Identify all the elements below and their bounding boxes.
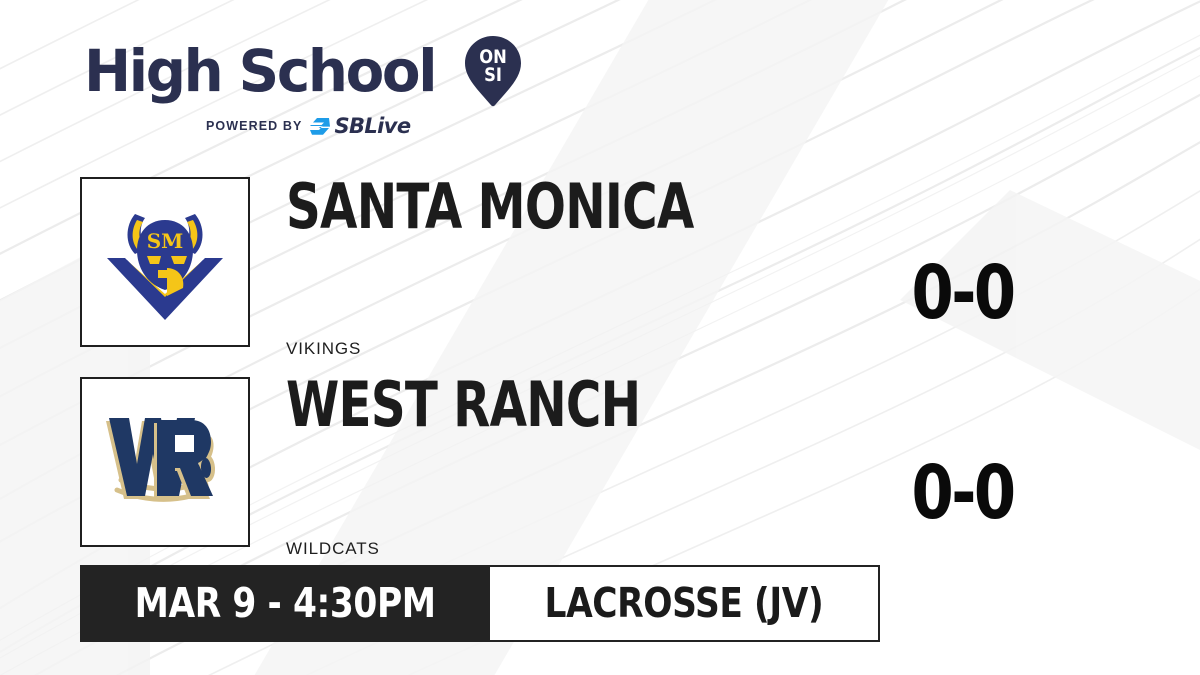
team-logo-santa-monica: SM [80, 177, 250, 347]
brand-header: High School ON SI POWERED BY SBLive [84, 34, 514, 134]
svg-text:SI: SI [484, 65, 502, 86]
team-score-west-ranch: 0-0 [912, 456, 1014, 530]
game-sport-text: LACROSSE (JV) [545, 583, 824, 624]
brand-wordmark: High School ON SI [84, 34, 514, 108]
sblive-wordmark: SBLive [334, 114, 410, 138]
svg-text:SM: SM [147, 229, 184, 253]
team-mascot-wildcats: WILDCATS [286, 539, 380, 559]
game-sport-badge: LACROSSE (JV) [490, 565, 880, 642]
team-score-santa-monica: 0-0 [912, 256, 1014, 330]
team-mascot-vikings: VIKINGS [286, 339, 361, 359]
powered-by-row: POWERED BY SBLive [206, 114, 514, 138]
game-scorecard: High School ON SI POWERED BY SBLive [0, 0, 1200, 675]
team-logo-west-ranch [80, 377, 250, 547]
brand-title: High School [84, 42, 435, 100]
powered-by-label: POWERED BY [206, 119, 302, 133]
team-name-santa-monica: SANTA MONICA [286, 176, 693, 238]
game-datetime-text: MAR 9 - 4:30PM [135, 583, 436, 624]
game-datetime-badge: MAR 9 - 4:30PM [80, 565, 490, 642]
sblive-lockup: SBLive [309, 114, 410, 138]
wr-wildcat-claw-logo [95, 392, 235, 532]
game-info-bar: MAR 9 - 4:30PM LACROSSE (JV) [80, 565, 880, 642]
sblive-s-icon [309, 117, 331, 136]
on-si-pin-icon: ON SI [462, 34, 524, 108]
team-name-west-ranch: WEST RANCH [286, 374, 640, 436]
viking-head-logo: SM [95, 192, 235, 332]
